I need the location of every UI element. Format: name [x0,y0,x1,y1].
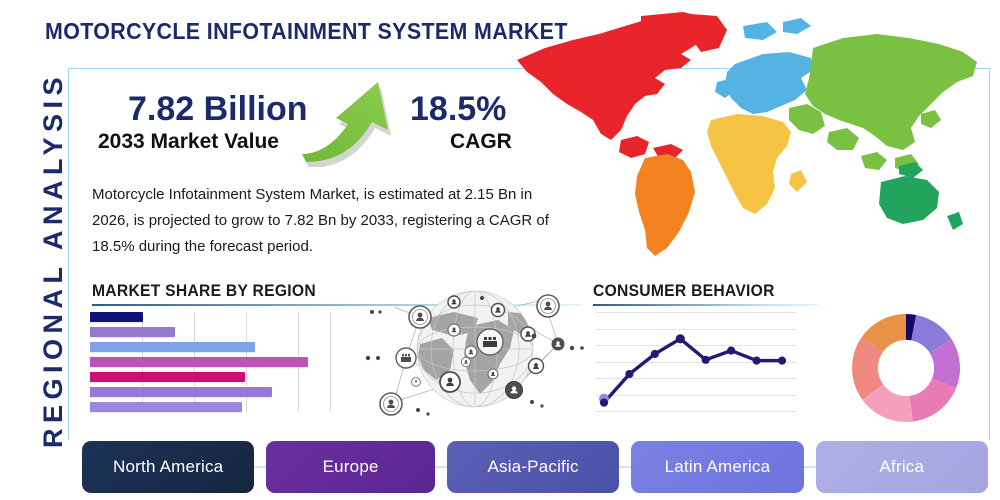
region-tab-asia-pacific[interactable]: Asia-Pacific [447,441,619,493]
globe-network-icon [358,278,593,420]
bar [90,387,272,397]
infographic-root: REGIONAL ANALYSIS MOTORCYCLE INFOTAINMEN… [0,0,1000,500]
tab-connector [254,467,266,468]
page-title: MOTORCYCLE INFOTAINMENT SYSTEM MARKET [45,18,568,45]
bar [90,327,175,337]
data-point [676,334,685,343]
region-tabs: North AmericaEuropeAsia-PacificLatin Ame… [82,441,988,493]
region-tab-label: Latin America [665,457,771,477]
region-tab-africa[interactable]: Africa [816,441,988,493]
region-tab-latin-america[interactable]: Latin America [631,441,803,493]
cagr-figure: 18.5% [410,90,506,129]
tab-connector [619,467,631,468]
data-point [778,357,786,365]
line-chart-series [596,312,796,412]
bar [90,312,143,322]
data-point [752,357,760,365]
data-point [727,346,735,354]
tab-connector [804,467,816,468]
data-point [600,399,608,407]
bar [90,357,308,367]
market-summary-text: Motorcycle Infotainment System Market, i… [92,182,562,260]
market-share-bar-chart [90,312,330,412]
gridline [330,312,331,412]
market-value-label: 2033 Market Value [98,130,279,154]
market-value-figure: 7.82 Billion [128,90,308,129]
bar-row [90,357,330,367]
growth-arrow-up-icon [302,82,412,167]
regional-distribution-donut-chart [848,310,964,426]
region-tab-europe[interactable]: Europe [266,441,434,493]
bar [90,372,245,382]
bar-row [90,312,330,322]
consumer-behavior-title: CONSUMER BEHAVIOR [593,281,800,301]
bar [90,342,255,352]
tab-connector [435,467,447,468]
bar-chart-bars [90,312,330,412]
bar-row [90,327,330,337]
section-divider [593,304,818,306]
region-tab-label: Asia-Pacific [487,457,578,477]
bar-row [90,387,330,397]
bar-row [90,342,330,352]
region-tab-north-america[interactable]: North America [82,441,254,493]
consumer-behavior-section-header: CONSUMER BEHAVIOR [593,281,818,306]
data-point [625,370,633,378]
consumer-behavior-line-chart [596,312,796,412]
data-point [702,356,710,364]
bar-row [90,372,330,382]
bar-row [90,402,330,412]
bar [90,402,242,412]
region-tab-label: Africa [880,457,925,477]
regional-analysis-side-label: REGIONAL ANALYSIS [33,70,73,450]
world-map-icon [495,8,995,270]
region-tab-label: North America [113,457,223,477]
kpi-row: 7.82 Billion 2033 Market Value 18.5% CAG… [90,90,510,170]
region-tab-label: Europe [323,457,379,477]
data-point [651,350,659,358]
